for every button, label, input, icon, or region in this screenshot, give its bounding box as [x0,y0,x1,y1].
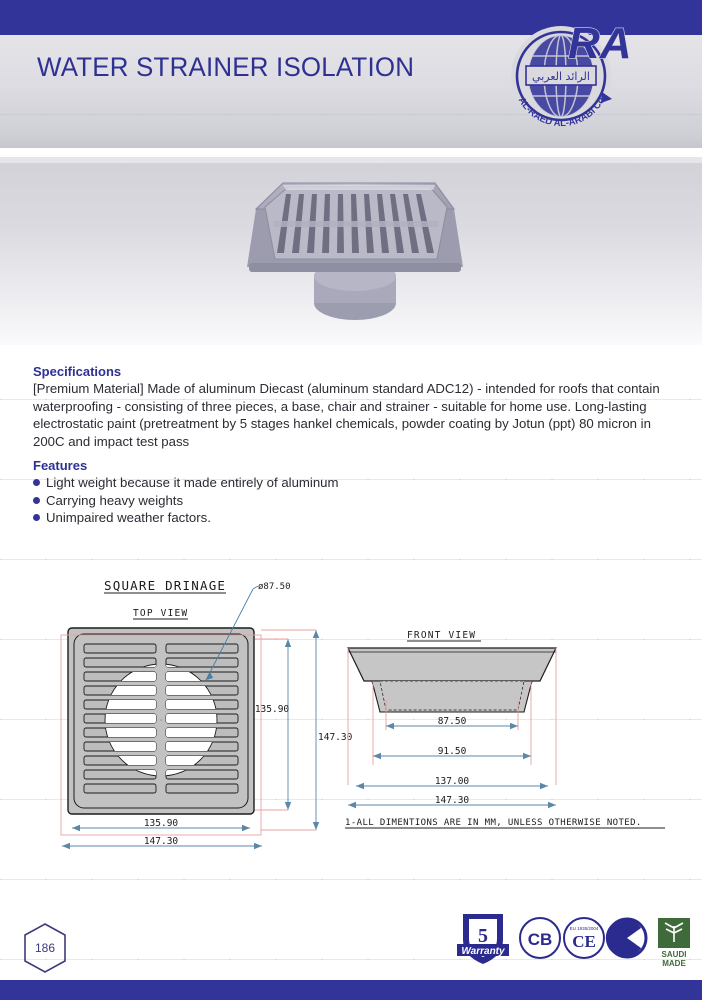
front-dim-4: 147.30 [435,795,470,806]
footer-band-pattern [0,980,702,1000]
cb-badge: CB [520,918,560,958]
front-view-label: FRONT VIEW [407,630,476,641]
dim-right-inner: 135.90 [255,704,290,715]
list-item: Unimpaired weather factors. [33,509,533,527]
diameter-callout: ø87.50 [258,582,291,592]
dim-right-outer: 147.30 [318,732,353,743]
bullet-icon [33,479,40,486]
saudi-made-line1: SAUDI [662,950,687,959]
saudi-made-line2: MADE [662,959,686,968]
logo-arabic: الرائد العربي [532,70,590,83]
list-item: Light weight because it made entirely of… [33,474,533,492]
feature-label: Unimpaired weather factors. [46,509,211,527]
dim-bottom-inner: 135.90 [144,818,179,829]
drawing-note: 1-ALL DIMENTIONS ARE IN MM, UNLESS OTHER… [345,818,642,828]
specifications-text: [Premium Material] Made of aluminum Diec… [33,380,673,450]
warranty-number: 5 [478,925,488,947]
feature-label: Light weight because it made entirely of… [46,474,338,492]
features-list: Light weight because it made entirely of… [33,474,533,527]
technical-drawing: SQUARE DRINAGE TOP VIEW [0,560,702,870]
page-header: WATER STRAINER ISOLATION الرائد العربي R… [0,0,702,148]
list-item: Carrying heavy weights [33,492,533,510]
specifications-heading: Specifications [33,364,121,379]
features-heading: Features [33,458,87,473]
g-mark-sub: MARK [620,950,634,955]
product-image [225,163,485,345]
dim-bottom-outer: 147.30 [144,836,179,847]
catalog-page: WATER STRAINER ISOLATION الرائد العربي R… [0,0,702,1000]
g-mark-badge: MARK [606,919,646,957]
ce-top-text: EU 1935/2004 [570,926,599,931]
top-view-label: TOP VIEW [133,608,188,619]
bullet-icon [33,497,40,504]
warranty-badge: 5 Warranty [457,914,509,964]
company-logo: الرائد العربي RAC AL-RAED AL-ARABI Co. [498,14,630,136]
warranty-label: Warranty [461,946,505,957]
saudi-made-badge: SAUDI MADE [658,918,690,968]
product-photo-band [0,163,702,345]
front-dim-3: 137.00 [435,776,470,787]
logo-initials: RAC [568,19,630,68]
page-number: 186 [22,922,68,974]
cb-label: CB [528,930,553,949]
drawing-title: SQUARE DRINAGE [104,578,226,593]
certification-badges: 5 Warranty CB EU 1935/2004 CE MARK [455,906,695,968]
feature-label: Carrying heavy weights [46,492,183,510]
ce-label: CE [572,932,596,951]
front-dim-2: 91.50 [438,746,467,757]
bullet-icon [33,514,40,521]
page-title: WATER STRAINER ISOLATION [37,52,414,83]
page-number-label: 186 [22,922,68,974]
footer-blue-band [0,980,702,1000]
front-dim-1: 87.50 [438,716,467,727]
ce-badge: EU 1935/2004 CE [564,918,604,958]
